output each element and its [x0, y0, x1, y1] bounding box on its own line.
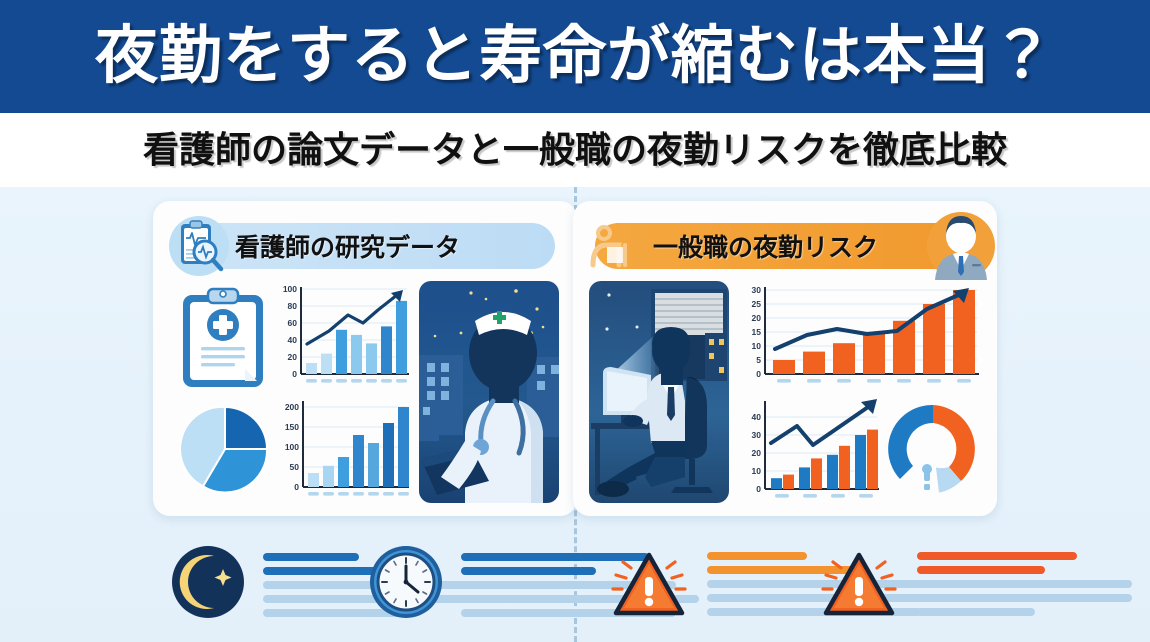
svg-text:30: 30: [752, 285, 762, 295]
page-title: 夜勤をすると寿命が縮むは本当？: [95, 25, 1055, 88]
svg-text:60: 60: [288, 318, 298, 328]
general-panel-badge-label: 一般職の夜勤リスク: [653, 228, 878, 264]
clipboard-magnifier-icon: [167, 214, 231, 283]
general-ratio-donut-chart: [883, 399, 983, 504]
businessman-avatar-icon: [925, 210, 997, 287]
svg-text:0: 0: [294, 482, 299, 492]
nurse-panel-badge: 看護師の研究データ: [175, 223, 555, 269]
nurse-panel-badge-label: 看護師の研究データ: [235, 228, 460, 264]
svg-text:80: 80: [288, 301, 298, 311]
bullet-item-warning-2: [818, 542, 1132, 625]
svg-text:20: 20: [288, 352, 298, 362]
placeholder-line: [707, 552, 807, 560]
general-panel-content: 30 25 20 15 10 5 0: [587, 281, 983, 503]
nurse-trend-bar-chart: 100 80 60 40 20 0: [273, 281, 413, 394]
nurse-panel-card: 看護師の研究データ: [153, 201, 577, 516]
medical-clipboard-icon: [175, 285, 271, 398]
nurse-panel-content: 100 80 60 40 20 0: [167, 281, 563, 503]
infographic-page: 夜勤をすると寿命が縮むは本当？ 看護師の論文データと一般職の夜勤リスクを徹底比較: [0, 0, 1150, 642]
clock-icon: [368, 544, 444, 625]
svg-text:0: 0: [756, 484, 761, 494]
nurse-cumulative-bar-chart: 200 150 100 50 0: [273, 393, 413, 506]
svg-text:30: 30: [752, 430, 762, 440]
general-compare-bar-chart: 40 30 20 10 0: [735, 393, 883, 506]
moon-night-icon: [170, 544, 246, 625]
placeholder-line: [917, 608, 1035, 616]
office-worker-night-illustration: [589, 281, 729, 508]
svg-text:40: 40: [752, 412, 762, 422]
subtitle-banner: 看護師の論文データと一般職の夜勤リスクを徹底比較: [0, 113, 1150, 187]
desk-worker-icon: [585, 219, 641, 278]
svg-text:0: 0: [292, 369, 297, 379]
svg-text:100: 100: [283, 284, 297, 294]
warning-triangle-icon: [818, 542, 900, 625]
svg-text:0: 0: [756, 369, 761, 379]
general-panel-card: 一般職の夜勤リスク: [573, 201, 997, 516]
placeholder-line: [917, 594, 1132, 602]
svg-text:10: 10: [752, 341, 762, 351]
bullet-lines-warning-2: [917, 552, 1132, 616]
svg-text:40: 40: [288, 335, 298, 345]
svg-text:20: 20: [752, 448, 762, 458]
svg-text:200: 200: [285, 402, 299, 412]
bottom-bullets-row: [0, 520, 1150, 642]
svg-text:10: 10: [752, 466, 762, 476]
svg-text:15: 15: [752, 327, 762, 337]
title-banner: 夜勤をすると寿命が縮むは本当？: [0, 0, 1150, 113]
general-panel-badge: 一般職の夜勤リスク: [595, 223, 975, 269]
body-area: 看護師の研究データ: [0, 187, 1150, 642]
nurse-night-illustration: [419, 281, 559, 508]
warning-triangle-icon: [608, 542, 690, 625]
placeholder-line: [917, 552, 1077, 560]
nurse-share-pie-chart: [175, 399, 275, 504]
placeholder-line: [917, 580, 1132, 588]
svg-text:100: 100: [285, 442, 299, 452]
placeholder-line: [917, 566, 1045, 574]
svg-text:20: 20: [752, 313, 762, 323]
general-risk-bar-chart: 30 25 20 15 10 5 0: [735, 281, 983, 394]
svg-text:25: 25: [752, 299, 762, 309]
svg-text:50: 50: [290, 462, 300, 472]
svg-text:150: 150: [285, 422, 299, 432]
svg-text:5: 5: [756, 355, 761, 365]
page-subtitle: 看護師の論文データと一般職の夜勤リスクを徹底比較: [143, 132, 1007, 168]
placeholder-line: [263, 553, 359, 561]
placeholder-line: [461, 567, 596, 575]
